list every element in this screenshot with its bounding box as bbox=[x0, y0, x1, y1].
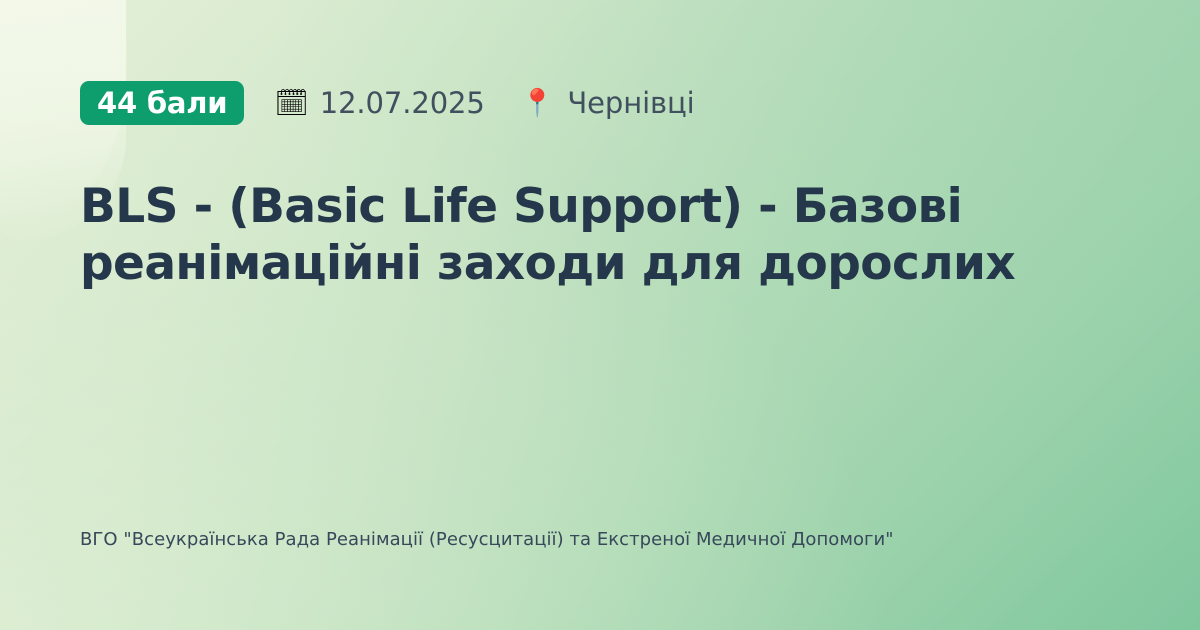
event-location: 📍 Чернівці bbox=[521, 89, 695, 118]
event-location-value: Чернівці bbox=[567, 89, 694, 118]
points-badge: 44 бали bbox=[80, 81, 244, 125]
event-card: 44 бали 🗓 12.07.2025 📍 Чернівці BLS - (B… bbox=[0, 0, 1200, 630]
meta-row: 44 бали 🗓 12.07.2025 📍 Чернівці bbox=[80, 81, 1120, 125]
layout-spacer bbox=[80, 324, 1120, 526]
round-pushpin-icon: 📍 bbox=[521, 90, 555, 117]
card-content: 44 бали 🗓 12.07.2025 📍 Чернівці BLS - (B… bbox=[0, 0, 1200, 630]
event-title: BLS - (Basic Life Support) - Базові реан… bbox=[80, 178, 1040, 293]
organizer-name: ВГО "Всеукраїнська Рада Реанімації (Ресу… bbox=[80, 526, 950, 554]
spiral-calendar-icon: 🗓 bbox=[274, 90, 308, 117]
event-date: 🗓 12.07.2025 bbox=[274, 89, 484, 118]
event-date-value: 12.07.2025 bbox=[320, 89, 485, 118]
